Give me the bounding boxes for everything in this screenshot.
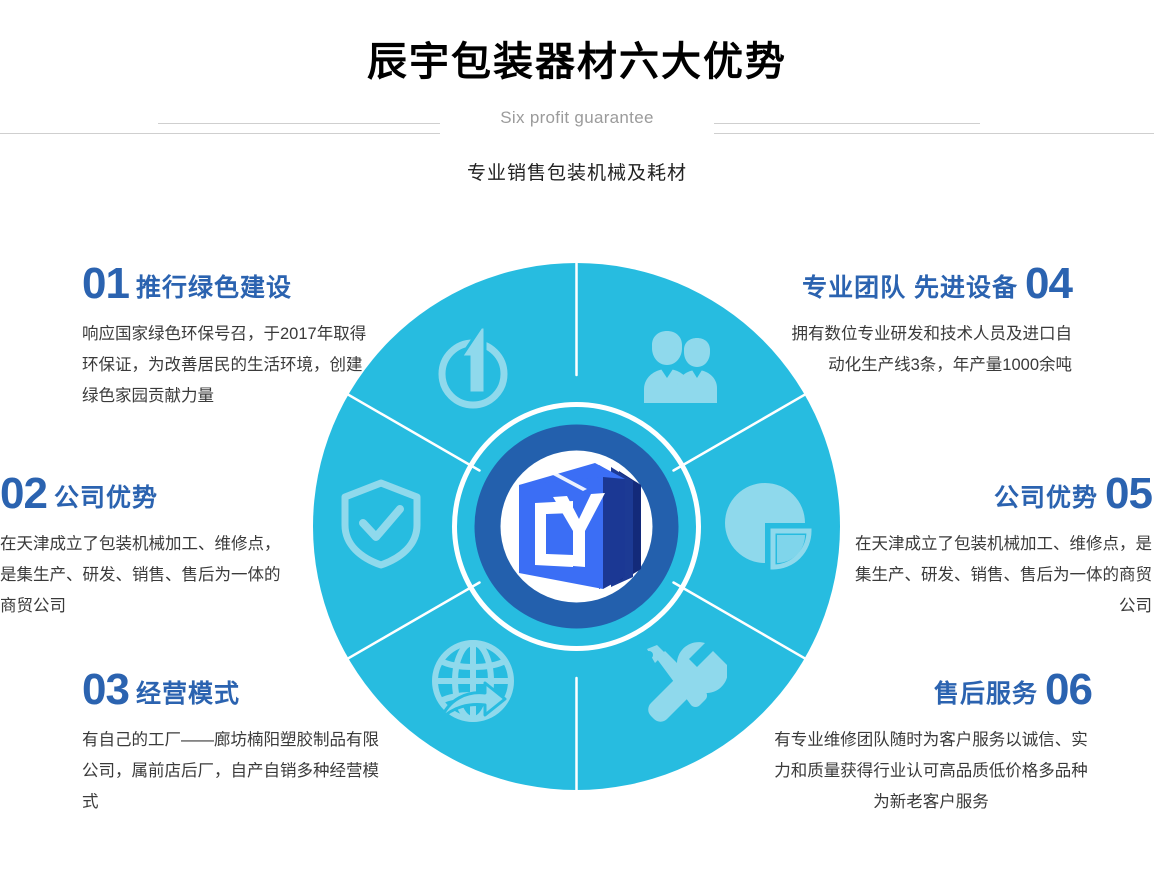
feature-item-05-heading: 公司优势05 <box>852 472 1152 516</box>
feature-item-04-number: 04 <box>1025 259 1072 308</box>
feature-item-03: 03经营模式 有自己的工厂——廊坊楠阳塑胶制品有限公司，属前店后厂，自产自销多种… <box>82 668 382 818</box>
feature-item-03-description: 有自己的工厂——廊坊楠阳塑胶制品有限公司，属前店后厂，自产自销多种经营模式 <box>82 725 382 818</box>
feature-item-05-title: 公司优势 <box>994 484 1098 512</box>
feature-item-04-description: 拥有数位专业研发和技术人员及进口自动化生产线3条，年产量1000余吨 <box>780 319 1072 381</box>
pie-chart-icon <box>721 475 817 571</box>
shield-check-icon <box>333 475 429 571</box>
feature-item-01-title: 推行绿色建设 <box>136 274 292 302</box>
two-people-team-icon <box>631 319 727 415</box>
feature-item-06-title: 售后服务 <box>934 680 1038 708</box>
feature-item-01-number: 01 <box>82 259 129 308</box>
feature-item-01: 01推行绿色建设 响应国家绿色环保号召，于2017年取得环保证，为改善居民的生活… <box>82 262 372 412</box>
six-segment-wheel <box>313 263 840 790</box>
feature-item-04-heading: 专业团队 先进设备04 <box>780 262 1072 306</box>
feature-item-06-number: 06 <box>1045 665 1092 714</box>
globe-arrow-icon <box>425 635 521 731</box>
feature-item-06-description: 有专业维修团队随时为客户服务以诚信、实力和质量获得行业认可高品质低价格多品种为新… <box>770 725 1092 818</box>
feature-item-03-number: 03 <box>82 665 129 714</box>
feature-item-02: 02公司优势 在天津成立了包装机械加工、维修点，是集生产、研发、销售、售后为一体… <box>0 472 292 622</box>
feature-item-03-title: 经营模式 <box>136 680 240 708</box>
feature-item-03-heading: 03经营模式 <box>82 668 382 712</box>
feature-item-02-title: 公司优势 <box>54 484 158 512</box>
feature-item-05: 公司优势05 在天津成立了包装机械加工、维修点，是集生产、研发、销售、售后为一体… <box>852 472 1152 622</box>
page-header: 辰宇包装器材六大优势 Six profit guarantee 专业销售包装机械… <box>0 0 1154 200</box>
subtitle-chinese: 专业销售包装机械及耗材 <box>0 158 1154 185</box>
feature-item-04: 专业团队 先进设备04 拥有数位专业研发和技术人员及进口自动化生产线3条，年产量… <box>780 262 1072 381</box>
feature-item-01-description: 响应国家绿色环保号召，于2017年取得环保证，为改善居民的生活环境，创建绿色家园… <box>82 319 372 412</box>
feature-item-01-heading: 01推行绿色建设 <box>82 262 372 306</box>
feature-item-05-description: 在天津成立了包装机械加工、维修点，是集生产、研发、销售、售后为一体的商贸公司 <box>852 529 1152 622</box>
feature-item-04-title: 专业团队 先进设备 <box>802 274 1018 302</box>
feature-item-06: 售后服务06 有专业维修团队随时为客户服务以诚信、实力和质量获得行业认可高品质低… <box>770 668 1092 818</box>
feature-item-06-heading: 售后服务06 <box>770 668 1092 712</box>
feature-item-02-heading: 02公司优势 <box>0 472 292 516</box>
feature-item-02-number: 02 <box>0 469 47 518</box>
feature-item-02-description: 在天津成立了包装机械加工、维修点，是集生产、研发、销售、售后为一体的商贸公司 <box>0 529 292 622</box>
subtitle-english: Six profit guarantee <box>0 108 1154 128</box>
wrench-screwdriver-icon <box>631 635 727 731</box>
package-box-logo <box>491 441 663 613</box>
number-one-in-circle-icon <box>425 319 521 415</box>
feature-item-05-number: 05 <box>1105 469 1152 518</box>
page-title: 辰宇包装器材六大优势 <box>0 36 1154 88</box>
